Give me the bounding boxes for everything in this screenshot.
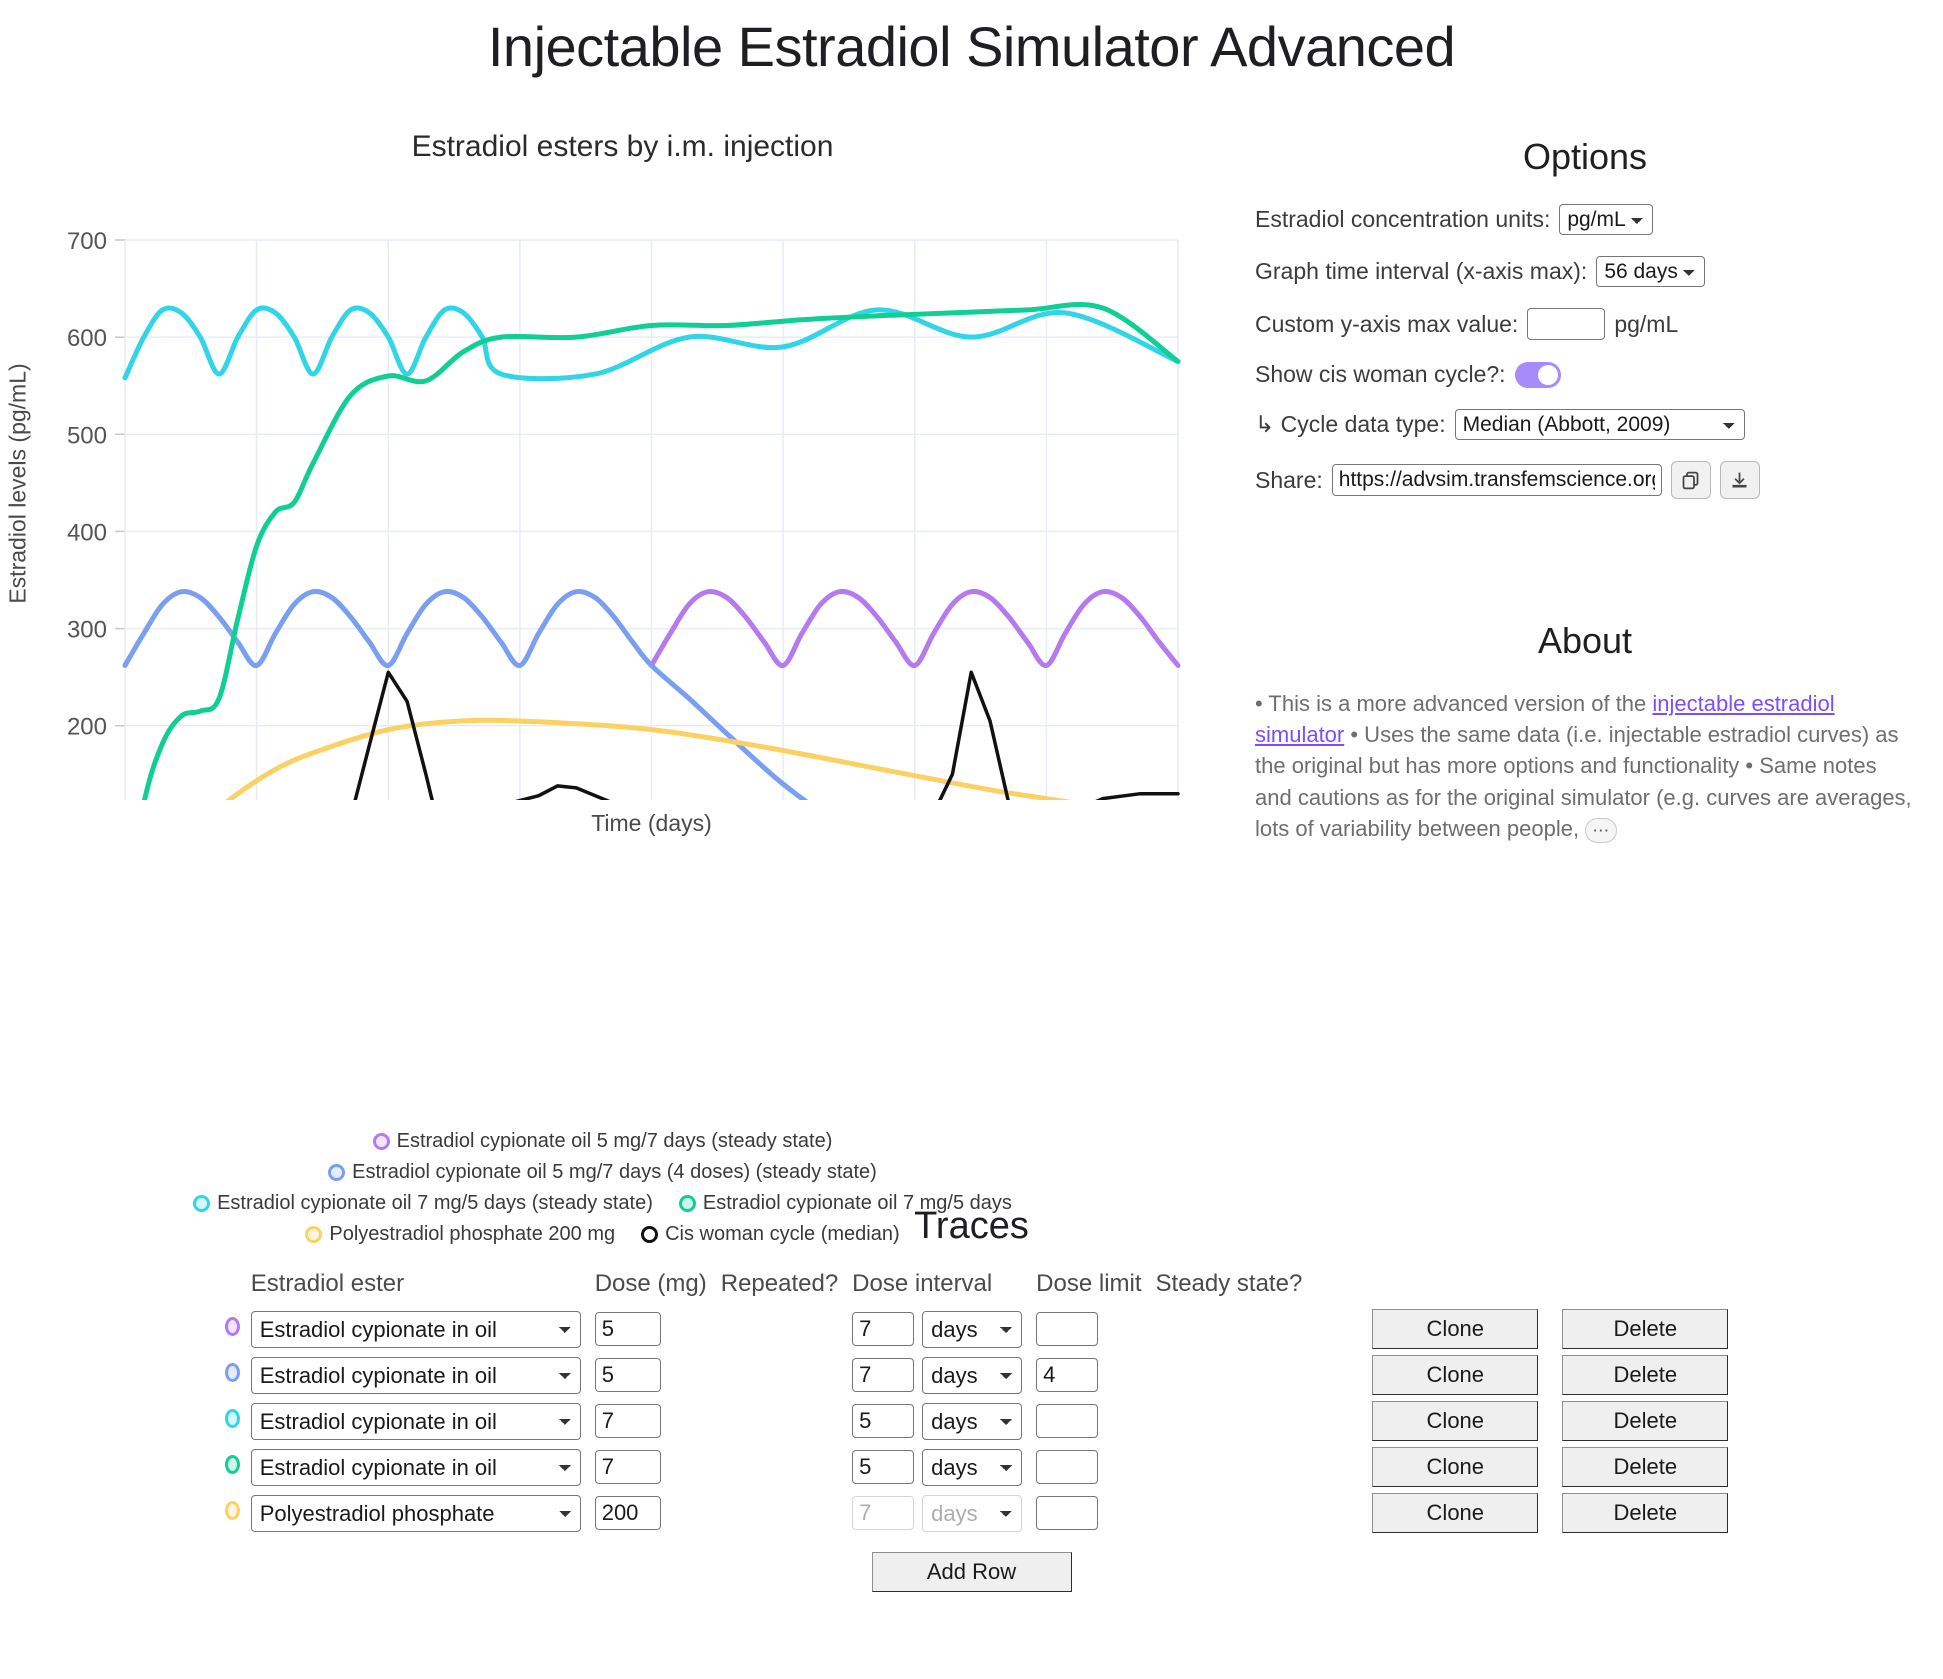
ester-cell: Estradiol cypionate in oil bbox=[251, 1352, 595, 1398]
repeated-cell bbox=[721, 1398, 852, 1444]
clone-button[interactable]: Clone bbox=[1372, 1447, 1538, 1487]
trace-color-dot bbox=[225, 1317, 240, 1336]
repeated-cell bbox=[721, 1444, 852, 1490]
dose-input[interactable] bbox=[595, 1404, 661, 1438]
ymax-label: Custom y-axis max value: bbox=[1255, 311, 1518, 338]
share-row: Share: bbox=[1255, 461, 1915, 499]
options-heading: Options bbox=[1255, 136, 1915, 178]
limit-header: Dose limit bbox=[1036, 1270, 1155, 1306]
interval-cell bbox=[852, 1490, 922, 1536]
interval-unit-select[interactable]: days bbox=[922, 1357, 1022, 1394]
trace-color-dot bbox=[225, 1409, 240, 1428]
table-row: Estradiol cypionate in oildaysCloneDelet… bbox=[215, 1444, 1729, 1490]
limit-cell bbox=[1036, 1444, 1155, 1490]
delete-button[interactable]: Delete bbox=[1562, 1309, 1728, 1349]
page-title: Injectable Estradiol Simulator Advanced bbox=[0, 14, 1943, 79]
steady-cell bbox=[1156, 1306, 1317, 1352]
units-row: Estradiol concentration units: pg/mL bbox=[1255, 204, 1915, 235]
table-row: Estradiol cypionate in oildaysCloneDelet… bbox=[215, 1398, 1729, 1444]
interval-unit-cell: days bbox=[922, 1306, 1036, 1352]
svg-text:400: 400 bbox=[67, 519, 107, 546]
ester-cell: Estradiol cypionate in oil bbox=[251, 1306, 595, 1352]
steady-cell bbox=[1156, 1490, 1317, 1536]
cycle-toggle-label: Show cis woman cycle?: bbox=[1255, 361, 1506, 388]
plot-area: Estradiol levels (pg/mL) Time (days) 010… bbox=[0, 170, 1205, 820]
time-interval-select[interactable]: 56 days bbox=[1596, 256, 1705, 287]
repeated-cell bbox=[721, 1352, 852, 1398]
options-panel: Options Estradiol concentration units: p… bbox=[1255, 136, 1915, 520]
dose-cell bbox=[595, 1490, 721, 1536]
interval-cell bbox=[852, 1398, 922, 1444]
x-axis-label: Time (days) bbox=[125, 810, 1178, 837]
delete-button[interactable]: Delete bbox=[1562, 1401, 1728, 1441]
add-row-button[interactable]: Add Row bbox=[872, 1552, 1072, 1592]
color-header bbox=[215, 1270, 251, 1306]
clone-cell: Clone bbox=[1316, 1352, 1562, 1398]
clone-button[interactable]: Clone bbox=[1372, 1309, 1538, 1349]
about-text: • This is a more advanced version of the… bbox=[1255, 688, 1915, 844]
repeated-header: Repeated? bbox=[721, 1270, 852, 1306]
interval-unit-select[interactable]: days bbox=[922, 1495, 1022, 1532]
trace-color-cell bbox=[215, 1490, 251, 1536]
table-row: Estradiol cypionate in oildaysCloneDelet… bbox=[215, 1352, 1729, 1398]
actions-header-2 bbox=[1562, 1270, 1728, 1306]
clone-button[interactable]: Clone bbox=[1372, 1355, 1538, 1395]
interval-unit-select[interactable]: days bbox=[922, 1311, 1022, 1348]
trace-color-dot bbox=[225, 1363, 240, 1382]
expand-about-button[interactable]: ⋯ bbox=[1585, 818, 1617, 843]
trace-color-cell bbox=[215, 1444, 251, 1490]
interval-input[interactable] bbox=[852, 1404, 914, 1438]
dose-input[interactable] bbox=[595, 1496, 661, 1530]
dose-input[interactable] bbox=[595, 1358, 661, 1392]
steady-cell bbox=[1156, 1444, 1317, 1490]
download-icon[interactable] bbox=[1720, 461, 1760, 499]
cycle-toggle-row: Show cis woman cycle?: bbox=[1255, 361, 1915, 388]
chart-panel: Estradiol esters by i.m. injection Estra… bbox=[0, 130, 1205, 820]
interval-input[interactable] bbox=[852, 1496, 914, 1530]
ester-header: Estradiol ester bbox=[251, 1270, 595, 1306]
actions-header bbox=[1316, 1270, 1562, 1306]
trace-color-cell bbox=[215, 1306, 251, 1352]
time-interval-row: Graph time interval (x-axis max): 56 day… bbox=[1255, 256, 1915, 287]
limit-cell bbox=[1036, 1306, 1155, 1352]
delete-cell: Delete bbox=[1562, 1398, 1728, 1444]
legend-label: Estradiol cypionate oil 5 mg/7 days (4 d… bbox=[352, 1161, 877, 1184]
interval-unit-cell: days bbox=[922, 1352, 1036, 1398]
legend-color-dot bbox=[328, 1164, 345, 1181]
legend-label: Estradiol cypionate oil 5 mg/7 days (ste… bbox=[397, 1130, 833, 1153]
trace-color-cell bbox=[215, 1352, 251, 1398]
legend-item[interactable]: Estradiol cypionate oil 5 mg/7 days (4 d… bbox=[328, 1161, 877, 1184]
svg-text:700: 700 bbox=[67, 228, 107, 255]
delete-cell: Delete bbox=[1562, 1352, 1728, 1398]
interval-cell bbox=[852, 1306, 922, 1352]
limit-cell bbox=[1036, 1490, 1155, 1536]
repeated-cell bbox=[721, 1306, 852, 1352]
clone-cell: Clone bbox=[1316, 1398, 1562, 1444]
about-text-after: • Uses the same data (i.e. injectable es… bbox=[1255, 722, 1912, 841]
ymax-input[interactable] bbox=[1527, 308, 1605, 340]
ester-cell: Polyestradiol phosphate bbox=[251, 1490, 595, 1536]
legend-row: Estradiol cypionate oil 5 mg/7 days (ste… bbox=[373, 1130, 833, 1153]
trace-color-cell bbox=[215, 1398, 251, 1444]
cycle-toggle[interactable] bbox=[1515, 362, 1561, 388]
clone-button[interactable]: Clone bbox=[1372, 1493, 1538, 1533]
interval-cell bbox=[852, 1352, 922, 1398]
delete-cell: Delete bbox=[1562, 1306, 1728, 1352]
ester-select[interactable]: Estradiol cypionate in oil bbox=[251, 1311, 581, 1348]
delete-button[interactable]: Delete bbox=[1562, 1447, 1728, 1487]
traces-header-row: Estradiol ester Dose (mg) Repeated? Dose… bbox=[215, 1270, 1729, 1306]
ester-select[interactable]: Polyestradiol phosphate bbox=[251, 1495, 581, 1532]
chart-title: Estradiol esters by i.m. injection bbox=[40, 130, 1205, 164]
interval-header: Dose interval bbox=[852, 1270, 1036, 1306]
cycle-type-select[interactable]: Median (Abbott, 2009) bbox=[1455, 409, 1745, 440]
ester-select[interactable]: Estradiol cypionate in oil bbox=[251, 1357, 581, 1394]
limit-input[interactable] bbox=[1036, 1450, 1098, 1484]
clone-cell: Clone bbox=[1316, 1490, 1562, 1536]
delete-cell: Delete bbox=[1562, 1490, 1728, 1536]
clone-cell: Clone bbox=[1316, 1444, 1562, 1490]
limit-cell bbox=[1036, 1398, 1155, 1444]
dose-header: Dose (mg) bbox=[595, 1270, 721, 1306]
interval-unit-cell: days bbox=[922, 1444, 1036, 1490]
delete-cell: Delete bbox=[1562, 1444, 1728, 1490]
traces-panel: Traces Estradiol ester Dose (mg) Repeate… bbox=[0, 1205, 1943, 1592]
interval-input[interactable] bbox=[852, 1358, 914, 1392]
dose-cell bbox=[595, 1352, 721, 1398]
interval-input[interactable] bbox=[852, 1312, 914, 1346]
interval-cell bbox=[852, 1444, 922, 1490]
interval-unit-select[interactable]: days bbox=[922, 1449, 1022, 1486]
svg-text:600: 600 bbox=[67, 325, 107, 352]
interval-unit-cell: days bbox=[922, 1398, 1036, 1444]
about-panel: About • This is a more advanced version … bbox=[1255, 620, 1915, 844]
legend-row: Estradiol cypionate oil 5 mg/7 days (4 d… bbox=[328, 1161, 877, 1184]
table-row: Estradiol cypionate in oildaysCloneDelet… bbox=[215, 1306, 1729, 1352]
legend-item[interactable]: Estradiol cypionate oil 5 mg/7 days (ste… bbox=[373, 1130, 833, 1153]
about-heading: About bbox=[1255, 620, 1915, 662]
app-root: Injectable Estradiol Simulator Advanced … bbox=[0, 0, 1943, 1679]
ester-select[interactable]: Estradiol cypionate in oil bbox=[251, 1449, 581, 1486]
dose-cell bbox=[595, 1306, 721, 1352]
steady-cell bbox=[1156, 1352, 1317, 1398]
cycle-type-row: ↳ Cycle data type: Median (Abbott, 2009) bbox=[1255, 409, 1915, 440]
repeated-cell bbox=[721, 1490, 852, 1536]
time-interval-label: Graph time interval (x-axis max): bbox=[1255, 258, 1587, 285]
table-row: Polyestradiol phosphatedaysCloneDelete bbox=[215, 1490, 1729, 1536]
share-input[interactable] bbox=[1332, 464, 1662, 496]
ymax-suffix: pg/mL bbox=[1614, 311, 1678, 338]
share-label: Share: bbox=[1255, 467, 1323, 494]
limit-input[interactable] bbox=[1036, 1312, 1098, 1346]
copy-icon[interactable] bbox=[1671, 461, 1711, 499]
units-label: Estradiol concentration units: bbox=[1255, 206, 1550, 233]
trace-color-dot bbox=[225, 1501, 240, 1520]
clone-button[interactable]: Clone bbox=[1372, 1401, 1538, 1441]
dose-cell bbox=[595, 1398, 721, 1444]
interval-unit-select[interactable]: days bbox=[922, 1403, 1022, 1440]
cycle-type-label: ↳ Cycle data type: bbox=[1255, 411, 1446, 438]
interval-unit-cell: days bbox=[922, 1490, 1036, 1536]
delete-button[interactable]: Delete bbox=[1562, 1493, 1728, 1533]
limit-input[interactable] bbox=[1036, 1496, 1098, 1530]
clone-cell: Clone bbox=[1316, 1306, 1562, 1352]
limit-input[interactable] bbox=[1036, 1358, 1098, 1392]
svg-text:200: 200 bbox=[67, 714, 107, 741]
legend-color-dot bbox=[373, 1133, 390, 1150]
dose-input[interactable] bbox=[595, 1450, 661, 1484]
traces-heading: Traces bbox=[0, 1205, 1943, 1248]
traces-table: Estradiol ester Dose (mg) Repeated? Dose… bbox=[215, 1270, 1729, 1536]
svg-text:300: 300 bbox=[67, 617, 107, 644]
units-select[interactable]: pg/mL bbox=[1559, 204, 1653, 235]
chart-svg: 01002003004005006007000714212835424956 bbox=[0, 170, 1205, 800]
ester-cell: Estradiol cypionate in oil bbox=[251, 1444, 595, 1490]
delete-button[interactable]: Delete bbox=[1562, 1355, 1728, 1395]
interval-input[interactable] bbox=[852, 1450, 914, 1484]
trace-color-dot bbox=[225, 1455, 240, 1474]
limit-cell bbox=[1036, 1352, 1155, 1398]
ester-select[interactable]: Estradiol cypionate in oil bbox=[251, 1403, 581, 1440]
dose-input[interactable] bbox=[595, 1312, 661, 1346]
steady-header: Steady state? bbox=[1156, 1270, 1317, 1306]
ester-cell: Estradiol cypionate in oil bbox=[251, 1398, 595, 1444]
ymax-row: Custom y-axis max value: pg/mL bbox=[1255, 308, 1915, 340]
about-text-before: • This is a more advanced version of the bbox=[1255, 691, 1652, 716]
steady-cell bbox=[1156, 1398, 1317, 1444]
limit-input[interactable] bbox=[1036, 1404, 1098, 1438]
dose-cell bbox=[595, 1444, 721, 1490]
svg-text:500: 500 bbox=[67, 422, 107, 449]
